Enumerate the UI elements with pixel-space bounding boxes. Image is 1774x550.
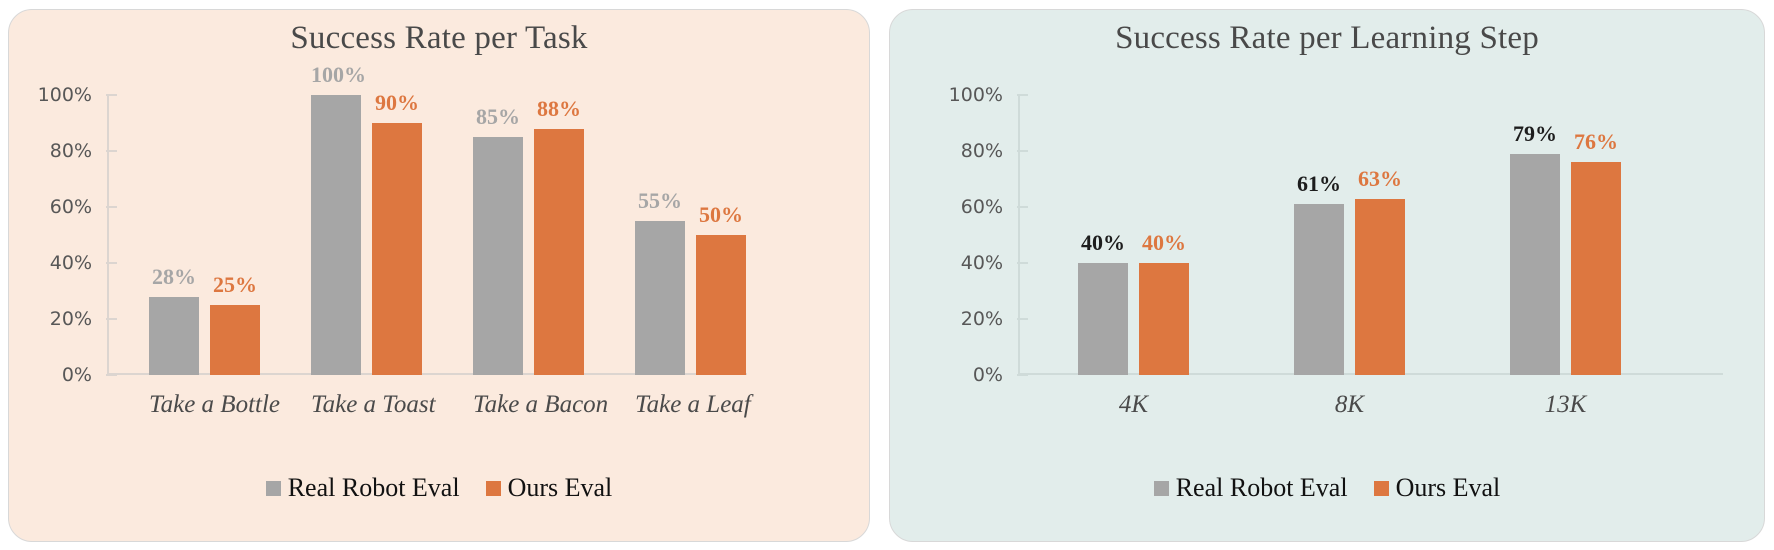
y-axis-tick: 80%: [1017, 150, 1028, 152]
bar-group: 28%25%Take a Bottle: [149, 95, 260, 375]
y-axis-tick-label: 80%: [961, 140, 1003, 162]
square-swatch-gray-icon: [1154, 481, 1169, 496]
chart-title-right: Success Rate per Learning Step: [890, 20, 1764, 57]
bar[interactable]: 85%: [473, 137, 523, 375]
bar-value-label: 40%: [1139, 230, 1189, 256]
bar[interactable]: 61%: [1294, 204, 1344, 375]
bar-value-label: 88%: [534, 96, 584, 122]
chart-card-success-rate-per-task: Success Rate per Task 100%80%60%40%20%0%…: [8, 9, 870, 542]
x-axis-category-label: 8K: [1294, 391, 1405, 419]
legend-item-ours-eval[interactable]: Ours Eval: [1374, 473, 1501, 503]
bar[interactable]: 63%: [1355, 199, 1405, 375]
bar-group: 100%90%Take a Toast: [311, 95, 422, 375]
bar[interactable]: 50%: [696, 235, 746, 375]
x-axis-category-label: 4K: [1078, 391, 1189, 419]
bar[interactable]: 55%: [635, 221, 685, 375]
bar-value-label: 85%: [473, 104, 523, 130]
y-axis-tick: 40%: [1017, 262, 1028, 264]
y-axis-tick: 60%: [106, 206, 117, 208]
bar-group: 79%76%13K: [1510, 95, 1621, 375]
x-axis-category-label: Take a Bottle: [149, 391, 260, 419]
square-swatch-gray-icon: [266, 481, 281, 496]
figure-root: Success Rate per Task 100%80%60%40%20%0%…: [0, 0, 1774, 550]
bar-value-label: 90%: [372, 90, 422, 116]
legend-item-real-robot-eval[interactable]: Real Robot Eval: [266, 473, 460, 503]
bar[interactable]: 79%: [1510, 154, 1560, 375]
bar[interactable]: 28%: [149, 297, 199, 375]
bar[interactable]: 76%: [1571, 162, 1621, 375]
bar[interactable]: 25%: [210, 305, 260, 375]
bar-value-label: 55%: [635, 188, 685, 214]
bar-value-label: 61%: [1294, 171, 1344, 197]
x-axis-category-label: 13K: [1510, 391, 1621, 419]
plot-area-right: 100%80%60%40%20%0% 40%40%4K61%63%8K79%76…: [1018, 95, 1723, 375]
bar[interactable]: 88%: [534, 129, 584, 375]
y-axis-tick-label: 0%: [973, 364, 1003, 386]
y-axis-line-left: [107, 95, 109, 375]
chart-title-left: Success Rate per Task: [9, 20, 869, 57]
legend-label: Ours Eval: [1396, 473, 1501, 503]
y-axis-tick: 100%: [1017, 94, 1028, 96]
y-axis-tick-label: 100%: [949, 84, 1003, 106]
x-axis-category-label: Take a Leaf: [635, 391, 746, 419]
y-axis-tick-label: 40%: [50, 252, 92, 274]
x-axis-category-label: Take a Toast: [311, 391, 422, 419]
legend-item-ours-eval[interactable]: Ours Eval: [486, 473, 613, 503]
y-axis-tick-label: 40%: [961, 252, 1003, 274]
bar[interactable]: 40%: [1139, 263, 1189, 375]
square-swatch-orange-icon: [486, 481, 501, 496]
y-axis-tick: 40%: [106, 262, 117, 264]
y-axis-tick: 80%: [106, 150, 117, 152]
legend-left: Real Robot Eval Ours Eval: [9, 473, 869, 503]
bar-group: 55%50%Take a Leaf: [635, 95, 746, 375]
y-axis-tick: 60%: [1017, 206, 1028, 208]
y-axis-line-right: [1018, 95, 1020, 375]
y-axis-tick: 20%: [106, 318, 117, 320]
chart-card-success-rate-per-learning-step: Success Rate per Learning Step 100%80%60…: [889, 9, 1765, 542]
legend-item-real-robot-eval[interactable]: Real Robot Eval: [1154, 473, 1348, 503]
legend-right: Real Robot Eval Ours Eval: [890, 473, 1764, 503]
y-axis-tick-label: 60%: [961, 196, 1003, 218]
y-axis-tick-label: 0%: [62, 364, 92, 386]
bar-value-label: 50%: [696, 202, 746, 228]
y-axis-tick: 20%: [1017, 318, 1028, 320]
bar-value-label: 100%: [311, 62, 361, 88]
bar-group: 40%40%4K: [1078, 95, 1189, 375]
bar-value-label: 76%: [1571, 129, 1621, 155]
bar[interactable]: 90%: [372, 123, 422, 375]
bar-group: 61%63%8K: [1294, 95, 1405, 375]
y-axis-tick-label: 80%: [50, 140, 92, 162]
bar-value-label: 79%: [1510, 121, 1560, 147]
plot-area-left: 100%80%60%40%20%0% 28%25%Take a Bottle10…: [107, 95, 747, 375]
y-axis-tick-label: 100%: [38, 84, 92, 106]
bar-value-label: 28%: [149, 264, 199, 290]
legend-label: Ours Eval: [508, 473, 613, 503]
y-axis-tick-label: 20%: [50, 308, 92, 330]
bar[interactable]: 100%: [311, 95, 361, 375]
bar-group: 85%88%Take a Bacon: [473, 95, 584, 375]
bar-value-label: 63%: [1355, 166, 1405, 192]
bar-value-label: 25%: [210, 272, 260, 298]
y-axis-tick-label: 60%: [50, 196, 92, 218]
bar[interactable]: 40%: [1078, 263, 1128, 375]
square-swatch-orange-icon: [1374, 481, 1389, 496]
y-axis-tick: 0%: [1017, 374, 1028, 376]
legend-label: Real Robot Eval: [1176, 473, 1348, 503]
y-axis-tick-label: 20%: [961, 308, 1003, 330]
legend-label: Real Robot Eval: [288, 473, 460, 503]
y-axis-tick: 100%: [106, 94, 117, 96]
x-axis-category-label: Take a Bacon: [473, 391, 584, 419]
y-axis-tick: 0%: [106, 374, 117, 376]
bar-value-label: 40%: [1078, 230, 1128, 256]
